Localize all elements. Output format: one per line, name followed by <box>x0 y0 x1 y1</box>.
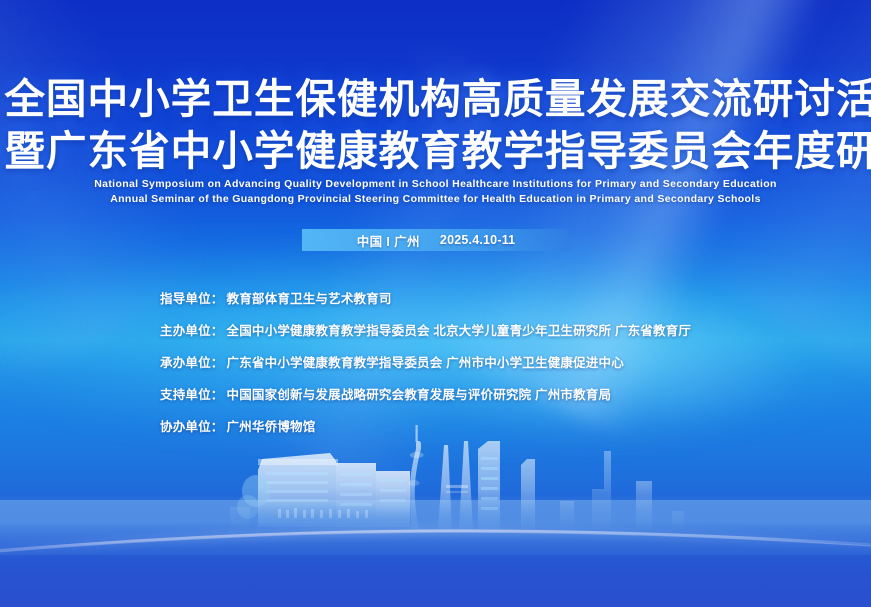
organizer-row-guidance: 指导单位：教育部体育卫生与艺术教育司 <box>160 288 691 307</box>
title-chinese-line-2: 暨广东省中小学健康教育教学指导委员会年度研讨活动 <box>4 128 866 174</box>
badge-date: 2025.4.10-11 <box>440 233 515 247</box>
organizer-row-supporter: 支持单位：中国国家创新与发展战略研究会教育发展与评价研究院 广州市教育局 <box>160 384 691 403</box>
subtitle-english-line-2: Annual Seminar of the Guangdong Provinci… <box>0 192 871 207</box>
organizer-label: 协办单位： <box>160 420 224 434</box>
organizer-value: 教育部体育卫生与艺术教育司 <box>227 292 392 306</box>
subtitle-english-line-1: National Symposium on Advancing Quality … <box>0 177 871 192</box>
organizer-label: 指导单位： <box>160 292 224 306</box>
organizer-row-coorganizer: 协办单位：广州华侨博物馆 <box>160 416 691 435</box>
title-chinese-line-1: 全国中小学卫生保健机构高质量发展交流研讨活动 <box>4 76 866 122</box>
organizer-row-organizer: 承办单位：广东省中小学健康教育教学指导委员会 广州市中小学卫生健康促进中心 <box>160 352 691 371</box>
badge-location: 中国 I 广州 <box>357 231 420 250</box>
subtitle-english: National Symposium on Advancing Quality … <box>0 177 871 206</box>
organizer-label: 支持单位： <box>160 388 224 402</box>
organizer-list: 指导单位：教育部体育卫生与艺术教育司 主办单位：全国中小学健康教育教学指导委员会… <box>160 288 691 435</box>
organizer-value: 广州华侨博物馆 <box>227 420 316 434</box>
organizer-value: 全国中小学健康教育教学指导委员会 北京大学儿童青少年卫生研究所 广东省教育厅 <box>227 324 692 338</box>
organizer-label: 主办单位： <box>160 324 224 338</box>
organizer-label: 承办单位： <box>160 356 224 370</box>
organizer-value: 广东省中小学健康教育教学指导委员会 广州市中小学卫生健康促进中心 <box>227 356 624 370</box>
organizer-row-host: 主办单位：全国中小学健康教育教学指导委员会 北京大学儿童青少年卫生研究所 广东省… <box>160 320 691 339</box>
location-date-badge: 中国 I 广州 2025.4.10-11 <box>302 229 570 251</box>
conference-poster: 全国中小学卫生保健机构高质量发展交流研讨活动 暨广东省中小学健康教育教学指导委员… <box>0 0 871 607</box>
organizer-value: 中国国家创新与发展战略研究会教育发展与评价研究院 广州市教育局 <box>227 388 612 402</box>
